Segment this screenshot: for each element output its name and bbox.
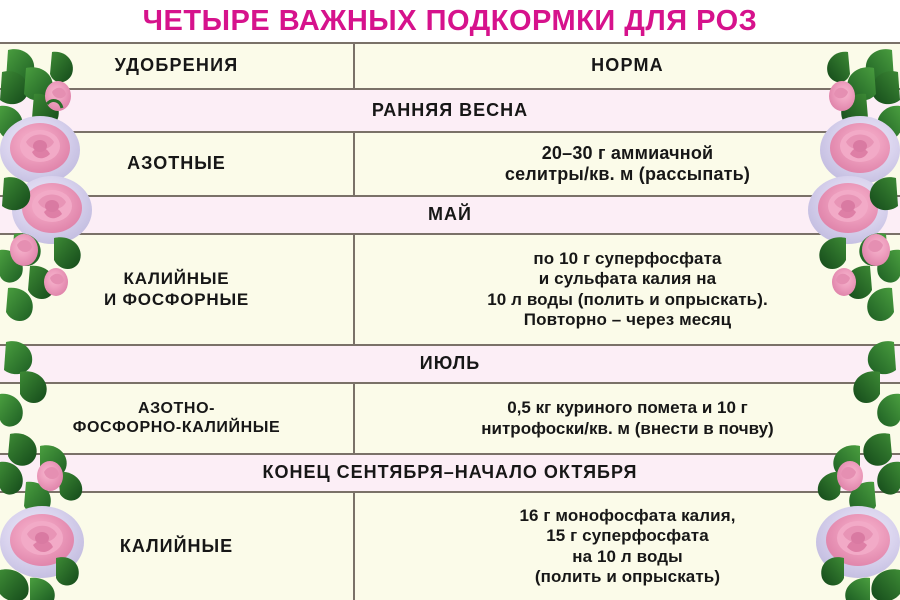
- infographic-page: ЧЕТЫРЕ ВАЖНЫХ ПОДКОРМКИ ДЛЯ РОЗ УДОБРЕНИ…: [0, 0, 900, 600]
- cell-norm-potassium-phosphorus: по 10 г суперфосфата и сульфата калия на…: [355, 235, 900, 344]
- cell-fertilizer-potassium-phosphorus: КАЛИЙНЫЕ И ФОСФОРНЫЕ: [0, 235, 355, 344]
- norm-line: 0,5 кг куриного помета и 10 г: [481, 398, 773, 418]
- fertilizer-line: КАЛИЙНЫЕ: [104, 269, 249, 289]
- norm-line: (полить и опрыскать): [519, 567, 735, 587]
- norm-line: Повторно – через месяц: [487, 310, 768, 330]
- norm-line: по 10 г суперфосфата: [487, 249, 768, 269]
- section-band-july: ИЮЛЬ: [0, 346, 900, 384]
- fertilizer-schedule-table: УДОБРЕНИЯ НОРМА РАННЯЯ ВЕСНА АЗОТНЫЕ 20–…: [0, 42, 900, 600]
- cell-norm-npk: 0,5 кг куриного помета и 10 г нитрофоски…: [355, 384, 900, 453]
- cell-norm-potassium: 16 г монофосфата калия, 15 г суперфосфат…: [355, 493, 900, 600]
- band-label: МАЙ: [0, 197, 900, 233]
- table-row-potassium: КАЛИЙНЫЕ 16 г монофосфата калия, 15 г су…: [0, 493, 900, 600]
- section-band-late-september: КОНЕЦ СЕНТЯБРЯ–НАЧАЛО ОКТЯБРЯ: [0, 455, 900, 493]
- norm-line: на 10 л воды: [519, 547, 735, 567]
- norm-line: нитрофоски/кв. м (внести в почву): [481, 419, 773, 439]
- cell-fertilizer-npk: АЗОТНО- ФОСФОРНО-КАЛИЙНЫЕ: [0, 384, 355, 453]
- band-label: РАННЯЯ ВЕСНА: [0, 90, 900, 131]
- page-title-bar: ЧЕТЫРЕ ВАЖНЫХ ПОДКОРМКИ ДЛЯ РОЗ: [0, 0, 900, 42]
- section-band-may: МАЙ: [0, 197, 900, 235]
- header-cell-norm: НОРМА: [355, 44, 900, 88]
- norm-line: селитры/кв. м (рассыпать): [505, 164, 750, 185]
- table-row-nitrogen: АЗОТНЫЕ 20–30 г аммиачной селитры/кв. м …: [0, 133, 900, 197]
- table-row-npk: АЗОТНО- ФОСФОРНО-КАЛИЙНЫЕ 0,5 кг куриног…: [0, 384, 900, 455]
- norm-line: 10 л воды (полить и опрыскать).: [487, 290, 768, 310]
- cell-fertilizer-potassium: КАЛИЙНЫЕ: [0, 493, 355, 600]
- norm-line: и сульфата калия на: [487, 269, 768, 289]
- cell-norm-nitrogen: 20–30 г аммиачной селитры/кв. м (рассыпа…: [355, 133, 900, 195]
- norm-line: 15 г суперфосфата: [519, 526, 735, 546]
- cell-fertilizer-nitrogen: АЗОТНЫЕ: [0, 133, 355, 195]
- fertilizer-line: АЗОТНО-: [73, 400, 281, 419]
- fertilizer-line: И ФОСФОРНЫЕ: [104, 290, 249, 310]
- norm-line: 20–30 г аммиачной: [505, 143, 750, 164]
- norm-line: 16 г монофосфата калия,: [519, 506, 735, 526]
- table-header-row: УДОБРЕНИЯ НОРМА: [0, 44, 900, 90]
- fertilizer-line: ФОСФОРНО-КАЛИЙНЫЕ: [73, 419, 281, 438]
- section-band-early-spring: РАННЯЯ ВЕСНА: [0, 90, 900, 133]
- band-label: КОНЕЦ СЕНТЯБРЯ–НАЧАЛО ОКТЯБРЯ: [0, 455, 900, 491]
- page-title: ЧЕТЫРЕ ВАЖНЫХ ПОДКОРМКИ ДЛЯ РОЗ: [143, 7, 758, 36]
- table-row-potassium-phosphorus: КАЛИЙНЫЕ И ФОСФОРНЫЕ по 10 г суперфосфат…: [0, 235, 900, 346]
- band-label: ИЮЛЬ: [0, 346, 900, 382]
- header-cell-fertilizer: УДОБРЕНИЯ: [0, 44, 355, 88]
